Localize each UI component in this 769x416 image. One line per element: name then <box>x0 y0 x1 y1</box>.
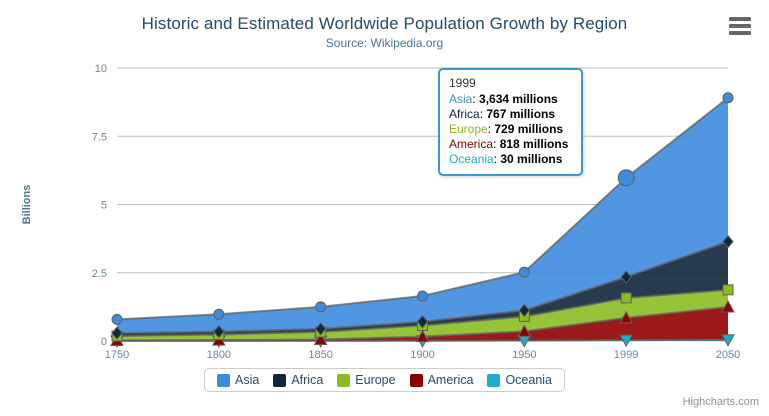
y-axis-tick-label: 10 <box>95 63 107 75</box>
y-axis-tick-label: 0 <box>101 336 107 348</box>
x-axis-tick-label: 1900 <box>410 349 434 361</box>
tooltip-series-name: Europe <box>449 122 488 136</box>
marker-asia-1800[interactable] <box>214 309 224 319</box>
legend-label: America <box>428 373 474 387</box>
legend-swatch-europe <box>337 374 350 387</box>
legend-swatch-africa <box>273 374 286 387</box>
marker-asia-1850[interactable] <box>316 302 326 312</box>
legend-label: Asia <box>235 373 259 387</box>
highcharts-chart: Historic and Estimated Worldwide Populat… <box>0 0 769 416</box>
plot-area: 02.557.510Billions1750180018501900195019… <box>0 0 769 416</box>
x-axis-tick-label: 1999 <box>614 349 638 361</box>
tooltip-row-asia: Asia: 3,634 millions <box>449 92 572 107</box>
legend-swatch-oceania <box>487 374 500 387</box>
tooltip-header: 1999 <box>449 76 572 90</box>
marker-asia-1900[interactable] <box>418 291 428 301</box>
tooltip: 1999 Asia: 3,634 millionsAfrica: 767 mil… <box>438 68 583 176</box>
legend-label: Europe <box>355 373 395 387</box>
x-axis-tick-label: 1800 <box>207 349 231 361</box>
x-axis-tick-label: 1850 <box>308 349 332 361</box>
tooltip-row-europe: Europe: 729 millions <box>449 122 572 137</box>
legend-item-asia[interactable]: Asia <box>217 373 259 387</box>
x-axis-tick-label: 2050 <box>716 349 740 361</box>
legend-item-africa[interactable]: Africa <box>273 373 323 387</box>
legend-item-america[interactable]: America <box>410 373 474 387</box>
tooltip-series-name: Asia <box>449 92 472 106</box>
legend-box: AsiaAfricaEuropeAmericaOceania <box>204 368 565 392</box>
y-axis-tick-label: 5 <box>101 200 107 212</box>
legend-item-oceania[interactable]: Oceania <box>487 373 552 387</box>
y-axis-tick-label: 7.5 <box>92 131 107 143</box>
marker-europe-2050[interactable] <box>723 285 733 295</box>
legend-label: Africa <box>291 373 323 387</box>
tooltip-series-name: Oceania <box>449 152 494 166</box>
tooltip-series-value: 767 millions <box>486 107 555 121</box>
y-axis-tick-label: 2.5 <box>92 268 107 280</box>
tooltip-rows: Asia: 3,634 millionsAfrica: 767 millions… <box>449 92 572 167</box>
tooltip-series-name: Africa <box>449 107 480 121</box>
credits-label: Highcharts.com <box>683 396 759 408</box>
tooltip-series-value: 818 millions <box>500 137 569 151</box>
tooltip-series-name: America <box>449 137 493 151</box>
marker-asia-1950[interactable] <box>519 267 529 277</box>
tooltip-series-value: 30 millions <box>500 152 562 166</box>
marker-asia-1999[interactable] <box>618 170 634 186</box>
tooltip-row-america: America: 818 millions <box>449 137 572 152</box>
legend-swatch-america <box>410 374 423 387</box>
marker-asia-1750[interactable] <box>112 314 122 324</box>
x-axis-tick-label: 1950 <box>512 349 536 361</box>
y-axis-title: Billions <box>21 185 33 225</box>
tooltip-row-oceania: Oceania: 30 millions <box>449 152 572 167</box>
tooltip-series-value: 729 millions <box>494 122 563 136</box>
marker-asia-2050[interactable] <box>723 93 733 103</box>
x-axis-tick-label: 1750 <box>105 349 129 361</box>
tooltip-row-africa: Africa: 767 millions <box>449 107 572 122</box>
legend-label: Oceania <box>505 373 552 387</box>
tooltip-series-value: 3,634 millions <box>479 92 558 106</box>
legend: AsiaAfricaEuropeAmericaOceania <box>0 368 769 392</box>
legend-item-europe[interactable]: Europe <box>337 373 395 387</box>
marker-europe-1999[interactable] <box>621 293 631 303</box>
legend-swatch-asia <box>217 374 230 387</box>
